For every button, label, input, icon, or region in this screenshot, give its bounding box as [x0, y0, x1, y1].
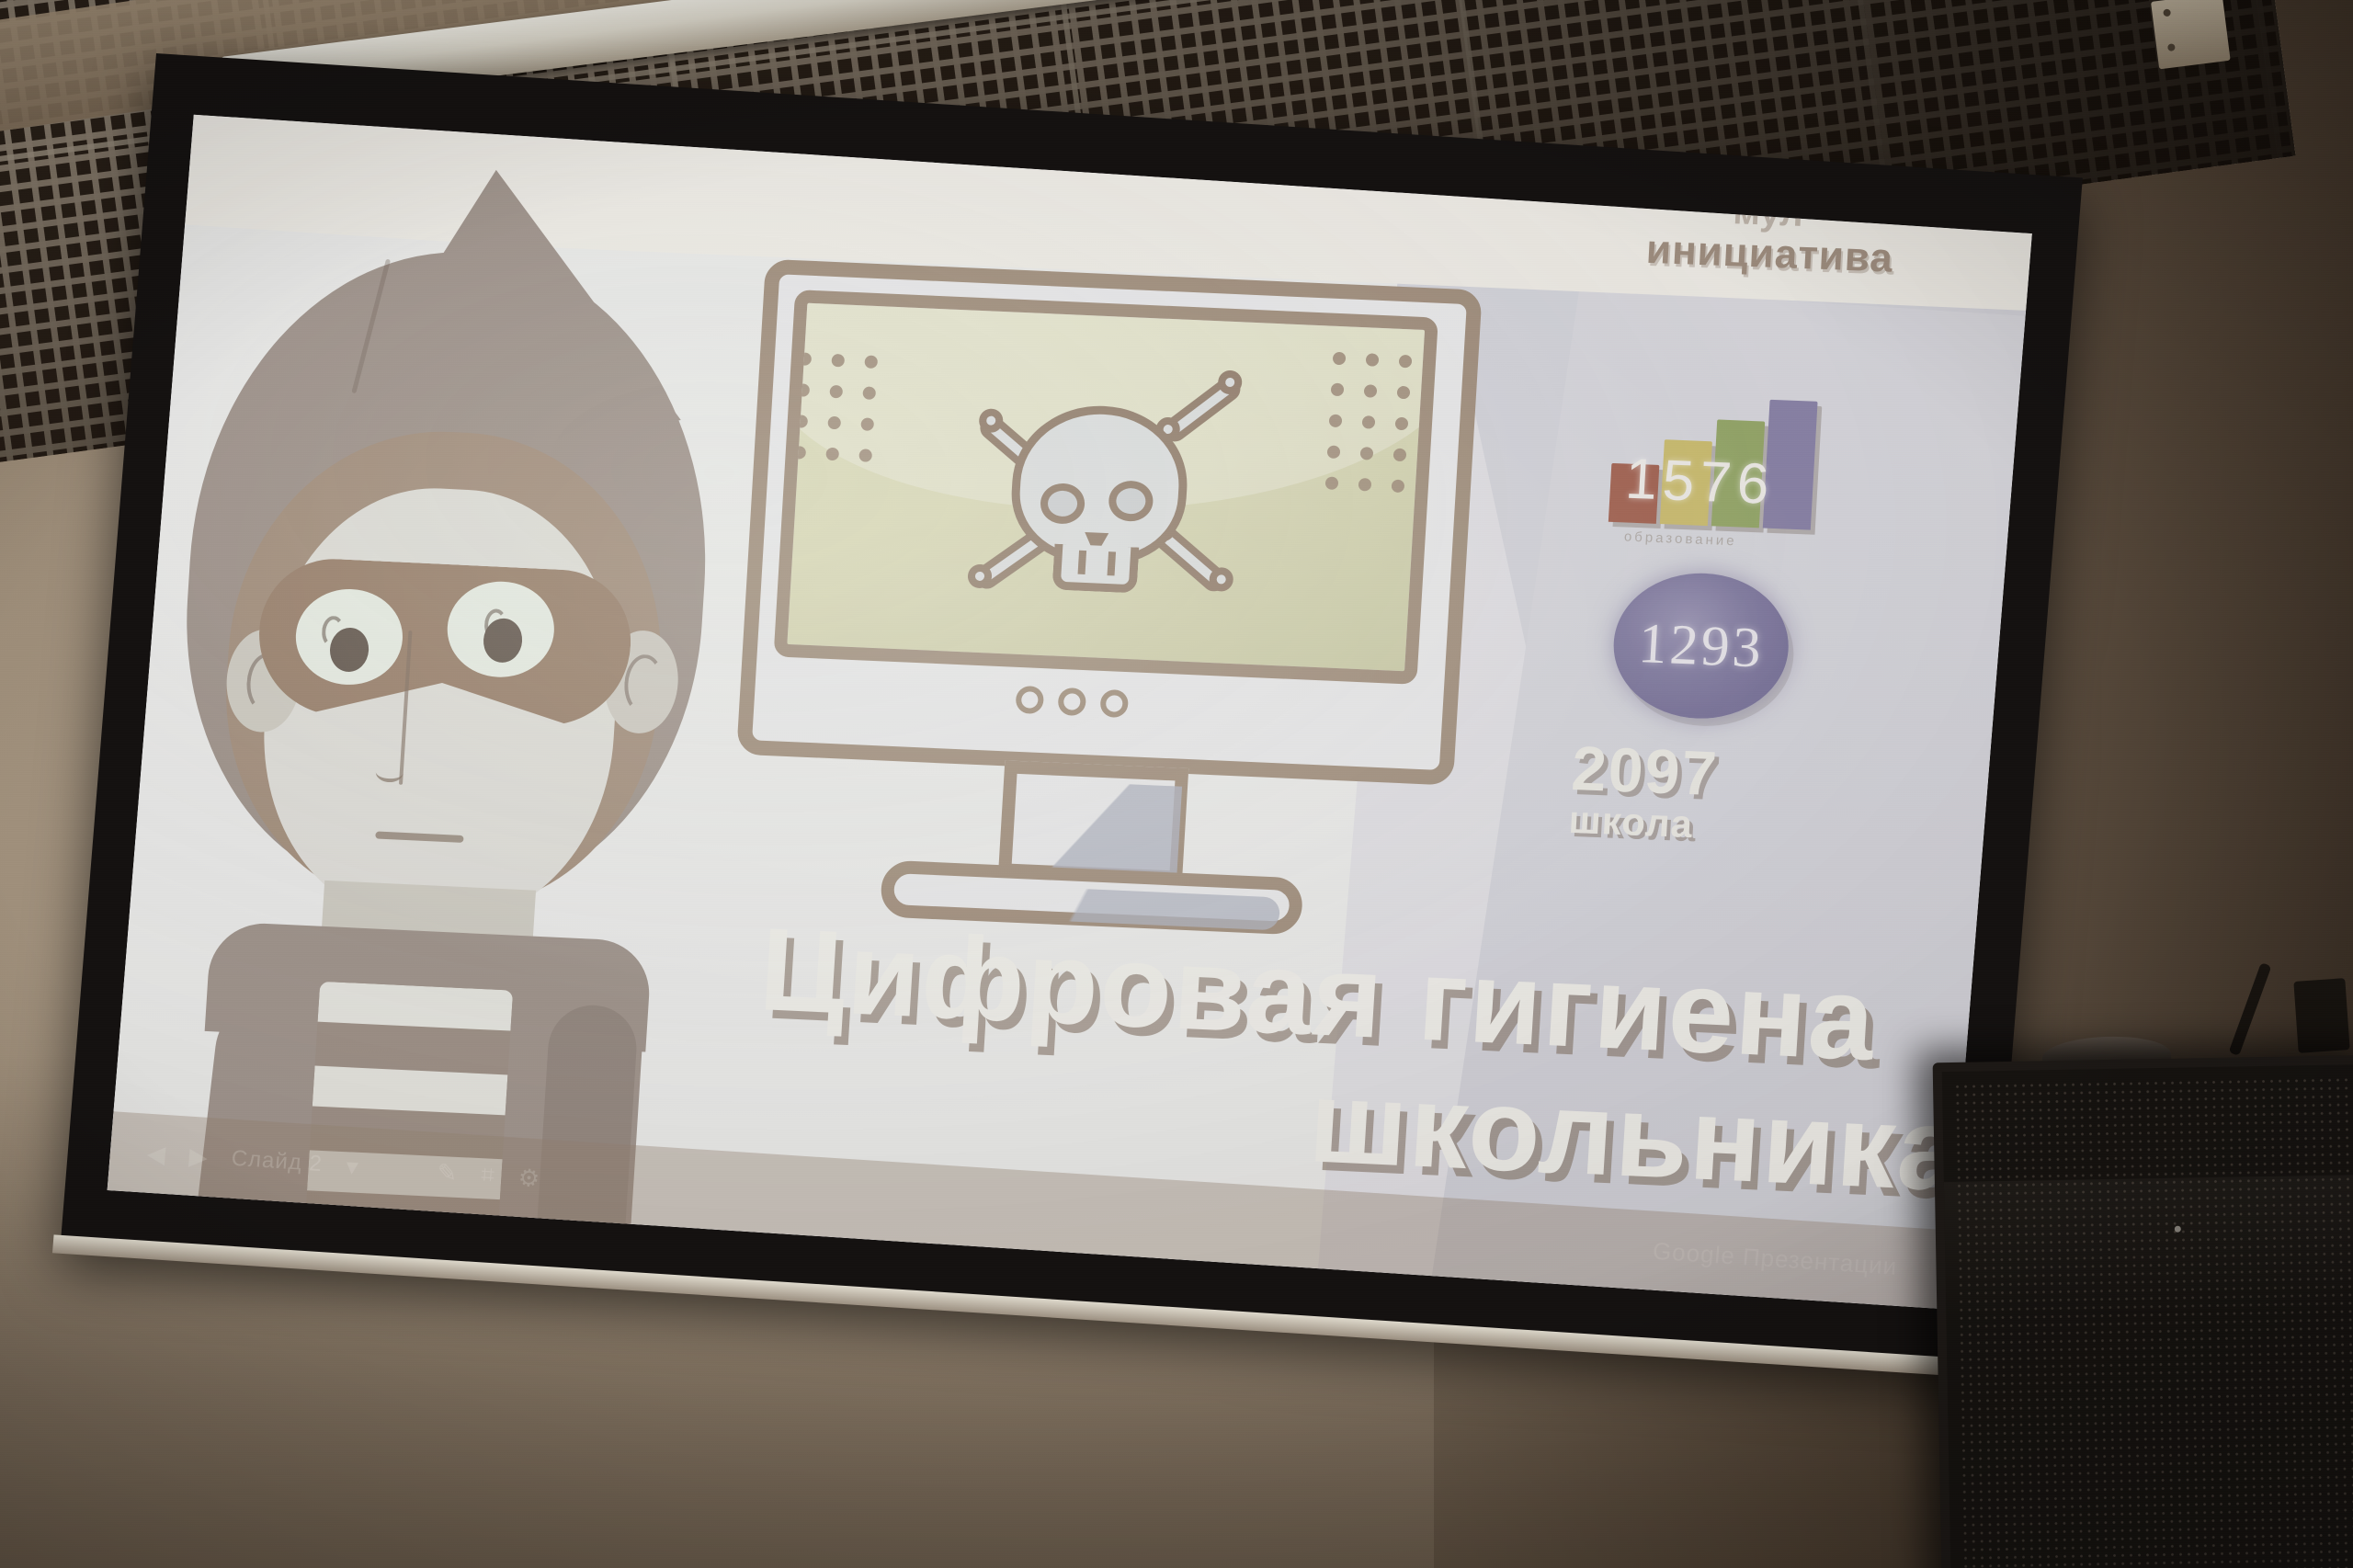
projected-slide: мул инициатива [108, 115, 2032, 1310]
logo-1576: 1576 образование [1608, 393, 1826, 540]
slide-brand-word: инициатива [1645, 227, 1894, 282]
dot-pattern-right [1325, 352, 1413, 493]
skull-and-crossbones-icon [962, 382, 1243, 623]
logo-2097-school: 2097 школа [1568, 739, 1794, 848]
monitor-button-icon [1015, 686, 1044, 714]
gear-icon[interactable]: ⚙ [517, 1163, 541, 1192]
slide-number-label[interactable]: Слайд 2 [231, 1146, 324, 1177]
bracket-screw-icon [2163, 8, 2171, 17]
monitor-buttons [1015, 686, 1129, 718]
presentation-watermark: Google Презентации [1652, 1236, 1949, 1284]
chevron-down-icon[interactable]: ▾ [345, 1152, 359, 1181]
logo-1293-label: 1293 [1637, 611, 1766, 681]
projection-screen-wall-bracket [2151, 0, 2231, 69]
hacker-character-illustration [108, 238, 810, 1241]
next-slide-icon[interactable]: ▶ [188, 1142, 209, 1171]
dot-pattern-left [792, 352, 878, 462]
room-photo: мул инициатива [0, 0, 2353, 1568]
captions-icon[interactable]: ⌗ [480, 1160, 495, 1190]
projection-screen: мул инициатива [49, 53, 2083, 1516]
speaker-cabinet [1933, 1055, 2353, 1568]
monitor-button-icon [1057, 687, 1086, 716]
monitor-illustration [729, 259, 1501, 915]
logo-1576-label: 1576 [1623, 447, 1824, 519]
antenna-base [2293, 978, 2349, 1053]
previous-slide-icon[interactable]: ◀ [146, 1139, 166, 1168]
logo-2097-number: 2097 [1570, 739, 1794, 808]
speaker-mesh-grille [1953, 1075, 2353, 1568]
speaker-sheen [1944, 1175, 2353, 1320]
monitor-button-icon [1099, 689, 1129, 718]
laser-pointer-icon[interactable]: ✎ [436, 1158, 458, 1187]
monitor-screen [774, 290, 1438, 685]
bracket-screw-icon [2167, 43, 2176, 51]
logo-2097-word: школа [1568, 801, 1790, 848]
